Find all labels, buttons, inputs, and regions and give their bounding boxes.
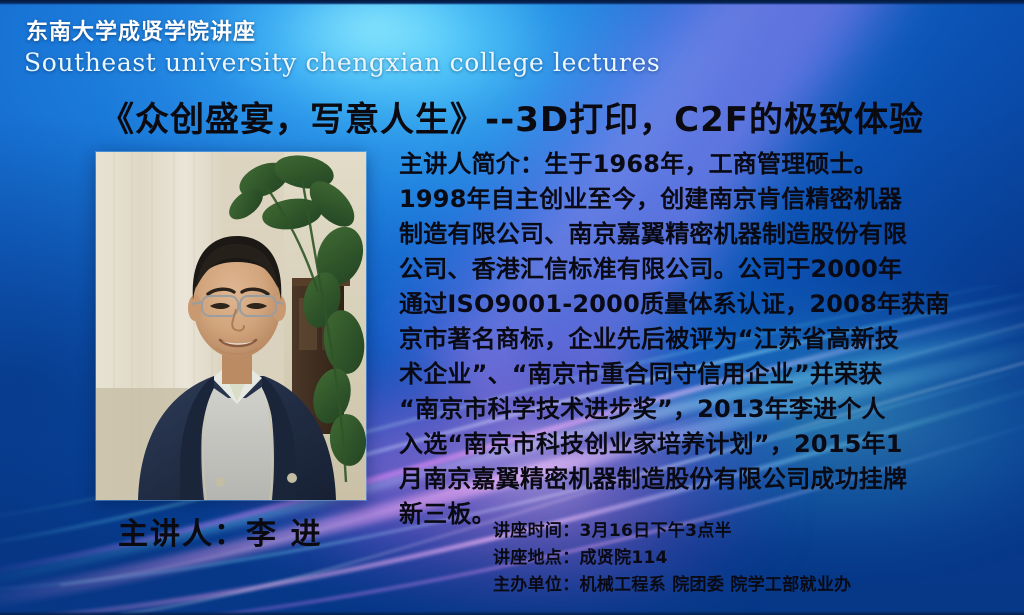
page-title: 东南大学成贤学院讲座	[26, 14, 256, 46]
bio-line: 制造有限公司、南京嘉翼精密机器制造股份有限	[399, 217, 983, 252]
bottom-border-strip	[0, 611, 1024, 615]
event-info: 讲座时间：3月16日下午3点半 讲座地点：成贤院114 主办单位：机械工程系 院…	[493, 518, 851, 599]
speaker-name: 主讲人：李 进	[118, 509, 322, 553]
bio-line: 入选“南京市科技创业家培养计划”，2015年1	[399, 427, 983, 462]
page-subtitle: Southeast university chengxian college l…	[24, 48, 660, 77]
bio-line: 1998年自主创业至今，创建南京肯信精密机器	[399, 182, 983, 217]
speaker-bio: 主讲人简介：生于1968年，工商管理硕士。 1998年自主创业至今，创建南京肯信…	[399, 147, 983, 532]
event-time: 讲座时间：3月16日下午3点半	[493, 518, 851, 545]
top-border-strip	[0, 0, 1024, 5]
bio-line: 术企业”、“南京市重合同守信用企业”并荣获	[399, 357, 983, 392]
lecture-poster: 东南大学成贤学院讲座 Southeast university chengxia…	[0, 0, 1024, 615]
event-organizer: 主办单位：机械工程系 院团委 院学工部就业办	[493, 572, 851, 599]
bio-line: 通过ISO9001-2000质量体系认证，2008年获南	[399, 287, 983, 322]
bio-line: 主讲人简介：生于1968年，工商管理硕士。	[399, 147, 983, 182]
bio-line: 月南京嘉翼精密机器制造股份有限公司成功挂牌	[399, 462, 983, 497]
bio-line: 公司、香港汇信标准有限公司。公司于2000年	[399, 252, 983, 287]
event-location: 讲座地点：成贤院114	[493, 545, 851, 572]
speaker-photo	[96, 152, 366, 500]
bio-line: 京市著名商标，企业先后被评为“江苏省高新技	[399, 322, 983, 357]
lecture-title: 《众创盛宴，写意人生》--3D打印，C2F的极致体验	[0, 92, 1024, 141]
bio-line: “南京市科学技术进步奖”，2013年李进个人	[399, 392, 983, 427]
